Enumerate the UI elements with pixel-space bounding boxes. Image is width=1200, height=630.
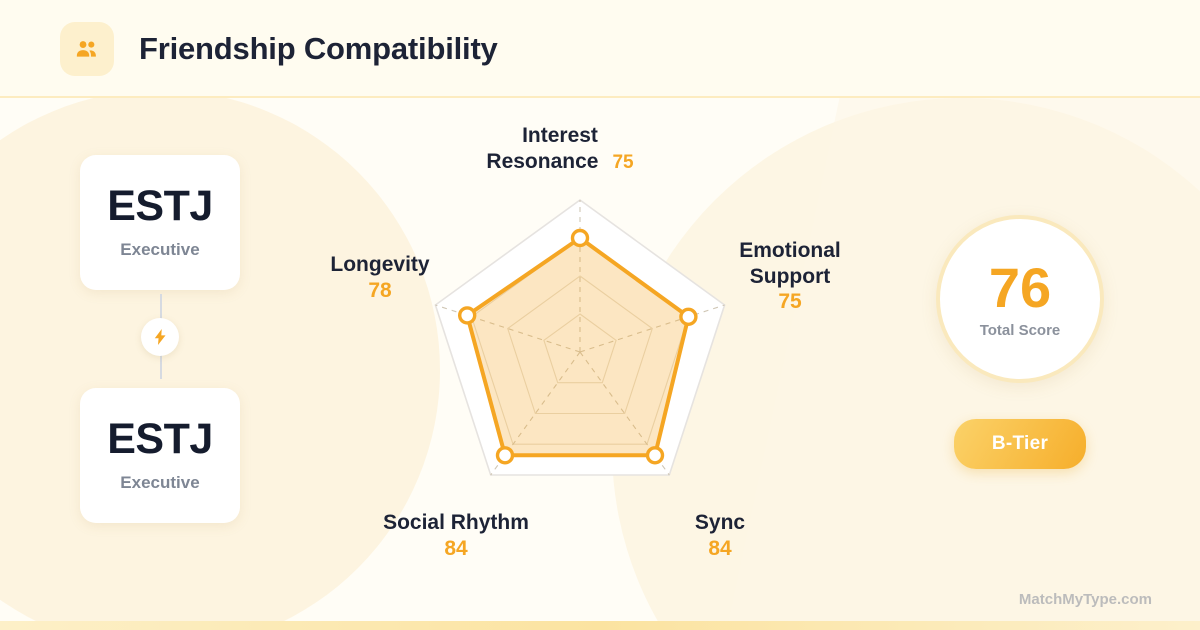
axis-label-emotional-support: Emotional Support 75 [680, 238, 900, 315]
page-title: Friendship Compatibility [139, 31, 498, 67]
axis-label-line1: Longevity [330, 253, 429, 276]
type-role: Executive [120, 240, 199, 260]
total-score-ring: 76 Total Score [936, 215, 1104, 383]
type-code: ESTJ [107, 185, 213, 228]
axis-value-social-rhythm: 84 [444, 537, 467, 560]
pair-connector [80, 290, 240, 383]
radar-chart: Interest Resonance75 Emotional Support 7… [280, 105, 900, 605]
bottom-accent-bar [0, 621, 1200, 630]
axis-label-line1: Sync [695, 511, 745, 534]
type-role: Executive [120, 473, 199, 493]
axis-label-line2: Support [750, 265, 830, 288]
score-panel: 76 Total Score B-Tier [920, 215, 1120, 469]
site-watermark: MatchMyType.com [1019, 591, 1152, 608]
axis-label-line1: Interest [522, 124, 598, 147]
axis-value-longevity: 78 [368, 279, 391, 302]
axis-value-interest-resonance: 75 [612, 152, 633, 173]
type-pair-column: ESTJ Executive ESTJ Executive [80, 150, 240, 523]
total-score-value: 76 [989, 260, 1051, 316]
axis-label-interest-resonance: Interest Resonance75 [430, 123, 690, 174]
type-card-bottom[interactable]: ESTJ Executive [80, 388, 240, 523]
axis-label-line1: Social Rhythm [383, 511, 529, 534]
total-score-caption: Total Score [980, 322, 1061, 339]
axis-label-line2: Resonance [486, 150, 598, 173]
axis-value-emotional-support: 75 [778, 290, 801, 313]
lightning-bolt-icon [141, 318, 179, 356]
axis-label-longevity: Longevity 78 [275, 252, 485, 303]
axis-label-line1: Emotional [739, 239, 841, 262]
page-header: Friendship Compatibility [0, 0, 1200, 98]
type-code: ESTJ [107, 418, 213, 461]
axis-label-sync: Sync 84 [630, 510, 810, 561]
axis-label-social-rhythm: Social Rhythm 84 [336, 510, 576, 561]
tier-badge: B-Tier [954, 419, 1086, 469]
axis-value-sync: 84 [708, 537, 731, 560]
type-card-top[interactable]: ESTJ Executive [80, 155, 240, 290]
compatibility-infographic: Friendship Compatibility ESTJ Executive … [0, 0, 1200, 630]
people-group-icon [60, 22, 114, 76]
